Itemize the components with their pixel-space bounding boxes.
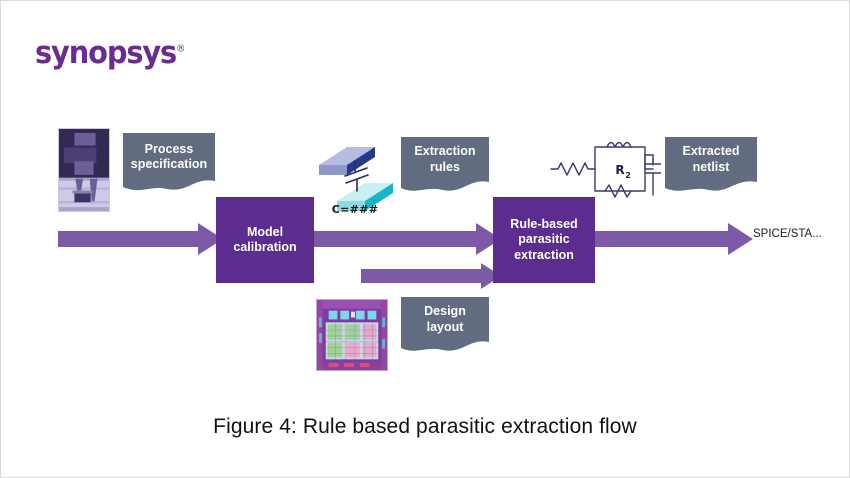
process-box-model-calibration[interactable]: Model calibration — [216, 197, 314, 283]
document-label: Process specification — [123, 133, 215, 181]
logo-wordmark: synopsys — [35, 35, 176, 71]
image-process-cross-section — [58, 128, 110, 212]
document-label: Extracted netlist — [665, 137, 757, 182]
document-design-layout[interactable]: Design layout — [401, 297, 489, 355]
document-extraction-rules[interactable]: Extraction rules — [401, 137, 489, 195]
arrow-input-to-model-calibration — [58, 223, 223, 255]
document-extracted-netlist[interactable]: Extracted netlist — [665, 137, 757, 195]
document-label: Extraction rules — [401, 137, 489, 182]
registered-trademark-icon: ® — [176, 44, 185, 55]
resistor-label: R — [615, 163, 624, 177]
process-box-label: Rule-based parasitic extraction — [510, 217, 577, 263]
capacitor-value-label: C=### — [311, 203, 399, 216]
process-box-label: Model calibration — [233, 225, 296, 256]
die-layout-illustration — [317, 300, 387, 370]
arrow-model-calibration-to-extraction — [311, 223, 501, 255]
circuit-schematic-illustration: R 2 — [549, 133, 661, 207]
synopsys-logo: synopsys® — [35, 35, 185, 71]
figure-caption: Figure 4: Rule based parasitic extractio… — [1, 415, 849, 439]
cross-section-illustration — [59, 129, 109, 211]
arrow-layout-to-extraction — [361, 263, 501, 289]
image-chip-die-layout — [316, 299, 388, 371]
resistor-subscript-label: 2 — [625, 171, 631, 180]
output-label-spice-sta: SPICE/STA... — [753, 228, 822, 240]
document-process-specification[interactable]: Process specification — [123, 133, 215, 195]
process-box-rule-based-parasitic-extraction[interactable]: Rule-based parasitic extraction — [493, 197, 595, 283]
document-label: Design layout — [401, 297, 489, 342]
slide-canvas: synopsys® Model calibration Rule-based p… — [0, 0, 850, 478]
arrow-extraction-to-spice — [591, 223, 753, 255]
